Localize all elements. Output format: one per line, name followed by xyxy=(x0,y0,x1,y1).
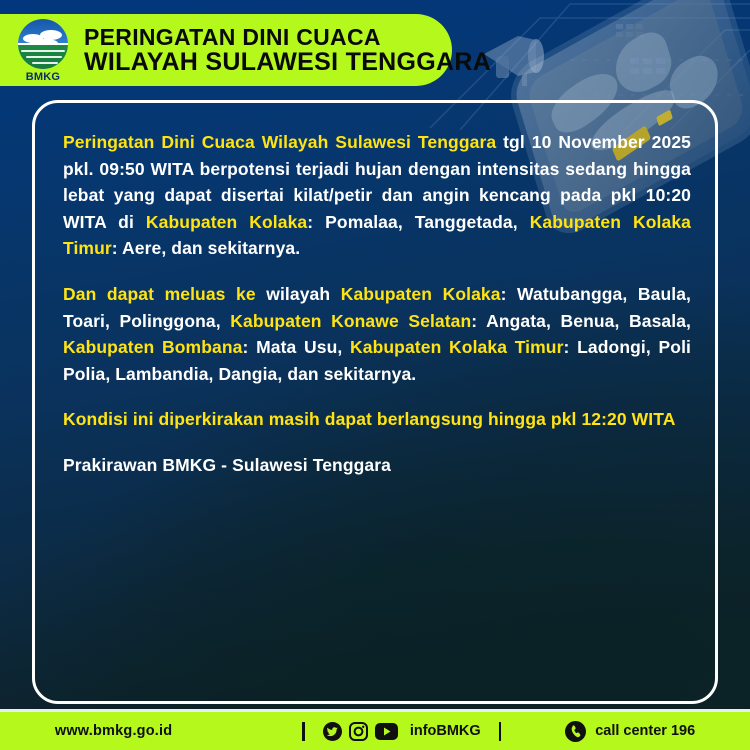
dot-grid-decoration xyxy=(630,58,720,106)
youtube-icon[interactable] xyxy=(375,723,398,740)
paragraph-3-duration: Kondisi ini diperkirakan masih dapat ber… xyxy=(63,406,691,433)
highlighted-region: Peringatan Dini Cuaca Wilayah Sulawesi T… xyxy=(63,132,496,152)
title-line-2: WILAYAH SULAWESI TENGGARA xyxy=(84,49,491,76)
social-links: infoBMKG xyxy=(323,722,481,741)
highlighted-region: Kabupaten Bombana xyxy=(63,337,242,357)
signature-line: Prakirawan BMKG - Sulawesi Tenggara xyxy=(63,452,691,479)
highlighted-region: Kabupaten Kolaka xyxy=(146,212,307,232)
warning-body-text: Peringatan Dini Cuaca Wilayah Sulawesi T… xyxy=(63,129,691,479)
body-segment: : Pomalaa, Tanggetada, xyxy=(307,212,529,232)
paragraph-2: Dan dapat meluas ke wilayah Kabupaten Ko… xyxy=(63,281,691,387)
footer-divider-1 xyxy=(302,722,305,741)
title-line-1: PERINGATAN DINI CUACA xyxy=(84,25,491,49)
website-link[interactable]: www.bmkg.go.id xyxy=(55,723,172,739)
weather-warning-poster: BMKG PERINGATAN DINI CUACA WILAYAH SULAW… xyxy=(0,0,750,750)
call-center[interactable]: call center 196 xyxy=(565,721,695,742)
bmkg-logo-icon: BMKG xyxy=(14,18,72,82)
body-segment: wilayah xyxy=(256,284,341,304)
highlighted-region: Kabupaten Konawe Selatan xyxy=(230,311,471,331)
highlighted-region: Dan dapat meluas ke xyxy=(63,284,256,304)
social-handle[interactable]: infoBMKG xyxy=(410,723,481,739)
page-title: PERINGATAN DINI CUACA WILAYAH SULAWESI T… xyxy=(84,25,491,76)
body-segment: : Aere, dan sekitarnya. xyxy=(112,238,300,258)
bmkg-logo-text: BMKG xyxy=(14,71,72,83)
body-segment: : Mata Usu, xyxy=(242,337,350,357)
highlighted-region: Kabupaten Kolaka Timur xyxy=(350,337,563,357)
warning-content-card: Peringatan Dini Cuaca Wilayah Sulawesi T… xyxy=(32,100,718,704)
call-center-label[interactable]: call center 196 xyxy=(595,723,695,739)
body-segment: : Angata, Benua, Basala, xyxy=(471,311,691,331)
highlighted-region: Kabupaten Kolaka xyxy=(341,284,501,304)
twitter-icon[interactable] xyxy=(323,722,342,741)
instagram-icon[interactable] xyxy=(349,722,368,741)
footer-bar: www.bmkg.go.id infoBMKG xyxy=(0,712,750,750)
header-banner: BMKG PERINGATAN DINI CUACA WILAYAH SULAW… xyxy=(0,14,452,86)
footer-divider-2 xyxy=(499,722,502,741)
phone-icon xyxy=(565,721,586,742)
paragraph-1: Peringatan Dini Cuaca Wilayah Sulawesi T… xyxy=(63,129,691,262)
